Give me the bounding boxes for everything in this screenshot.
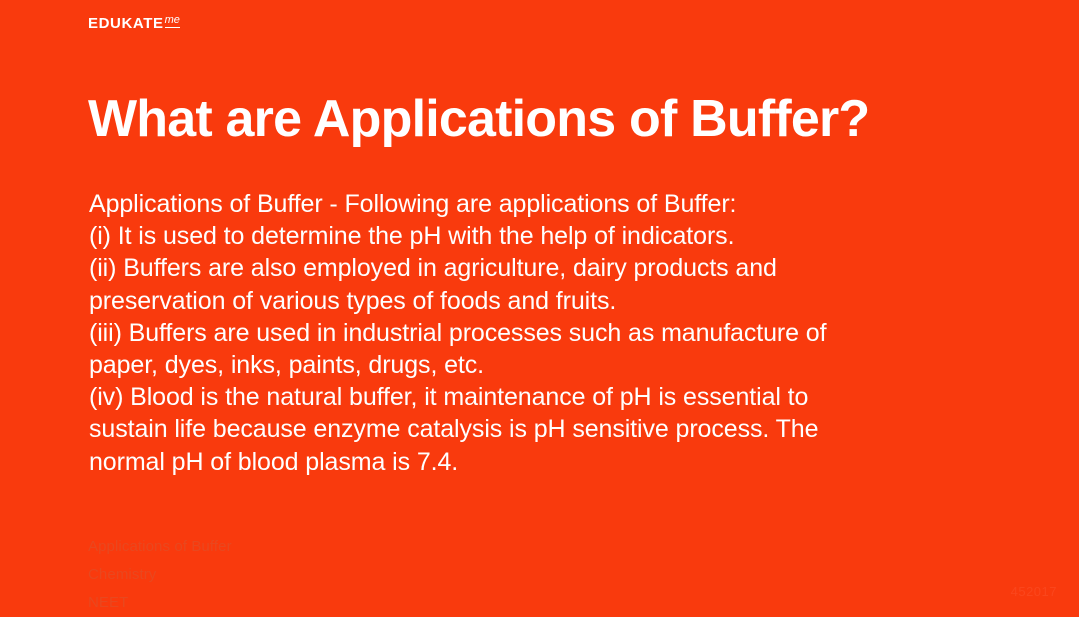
logo-wordmark: EDUKATE bbox=[88, 16, 164, 31]
slide-canvas: EDUKATE me What are Applications of Buff… bbox=[0, 0, 1079, 607]
body-line-iii: (iii) Buffers are used in industrial pro… bbox=[89, 317, 989, 381]
footer-meta: Applications of Buffer Chemistry NEET bbox=[88, 533, 232, 617]
body-line-iv: (iv) Blood is the natural buffer, it mai… bbox=[89, 381, 989, 478]
watermark-label: 452017 bbox=[1011, 584, 1057, 599]
footer-topic: Applications of Buffer bbox=[88, 533, 232, 561]
footer-subject: Chemistry bbox=[88, 561, 232, 589]
body-line-i: (i) It is used to determine the pH with … bbox=[89, 220, 989, 252]
body-content: Applications of Buffer - Following are a… bbox=[89, 188, 989, 478]
page-title: What are Applications of Buffer? bbox=[88, 92, 1018, 147]
edukate-logo[interactable]: EDUKATE me bbox=[88, 16, 180, 31]
body-line-intro: Applications of Buffer - Following are a… bbox=[89, 188, 989, 220]
body-line-ii: (ii) Buffers are also employed in agricu… bbox=[89, 252, 989, 316]
logo-suffix: me bbox=[165, 15, 180, 28]
footer-exam: NEET bbox=[88, 589, 232, 617]
